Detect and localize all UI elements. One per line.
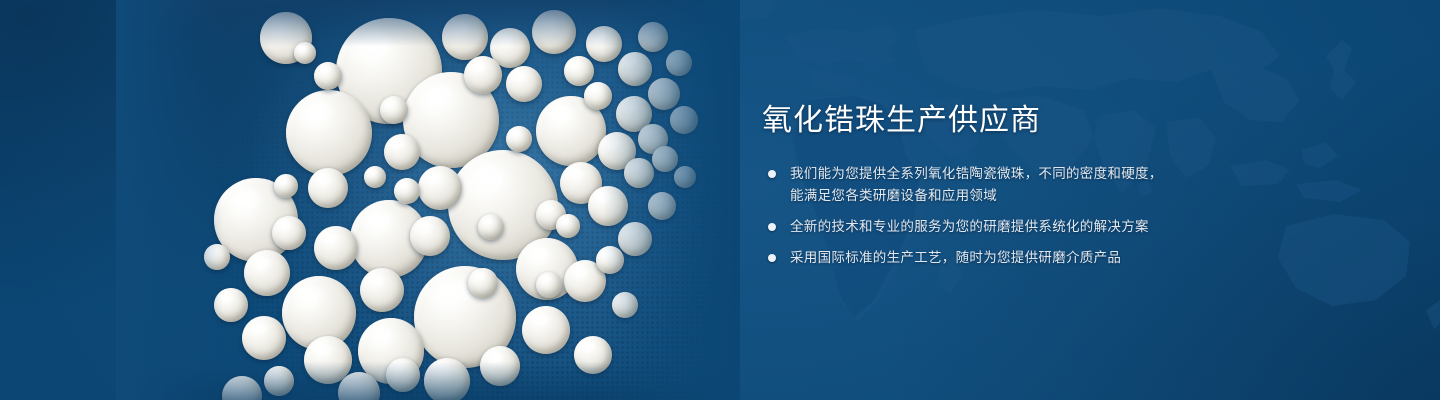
list-item: 采用国际标准的生产工艺，随时为您提供研磨介质产品 xyxy=(762,247,1322,269)
bullet-dot-icon xyxy=(768,170,776,178)
banner-content: 氧化锆珠生产供应商 我们能为您提供全系列氧化锆陶瓷微珠，不同的密度和硬度， 能满… xyxy=(762,104,1322,269)
list-item-line: 采用国际标准的生产工艺，随时为您提供研磨介质产品 xyxy=(790,247,1322,269)
list-item-line: 我们能为您提供全系列氧化锆陶瓷微珠，不同的密度和硬度， xyxy=(790,163,1322,185)
feature-list: 我们能为您提供全系列氧化锆陶瓷微珠，不同的密度和硬度， 能满足您各类研磨设备和应… xyxy=(762,163,1322,269)
list-item: 我们能为您提供全系列氧化锆陶瓷微珠，不同的密度和硬度， 能满足您各类研磨设备和应… xyxy=(762,163,1322,207)
list-item: 全新的技术和专业的服务为您的研磨提供系统化的解决方案 xyxy=(762,216,1322,238)
bullet-dot-icon xyxy=(768,223,776,231)
hero-banner: 氧化锆珠生产供应商 我们能为您提供全系列氧化锆陶瓷微珠，不同的密度和硬度， 能满… xyxy=(0,0,1440,400)
bullet-dot-icon xyxy=(768,254,776,262)
page-title: 氧化锆珠生产供应商 xyxy=(762,104,1322,137)
list-item-line: 能满足您各类研磨设备和应用领域 xyxy=(790,185,1322,207)
list-item-line: 全新的技术和专业的服务为您的研磨提供系统化的解决方案 xyxy=(790,216,1322,238)
